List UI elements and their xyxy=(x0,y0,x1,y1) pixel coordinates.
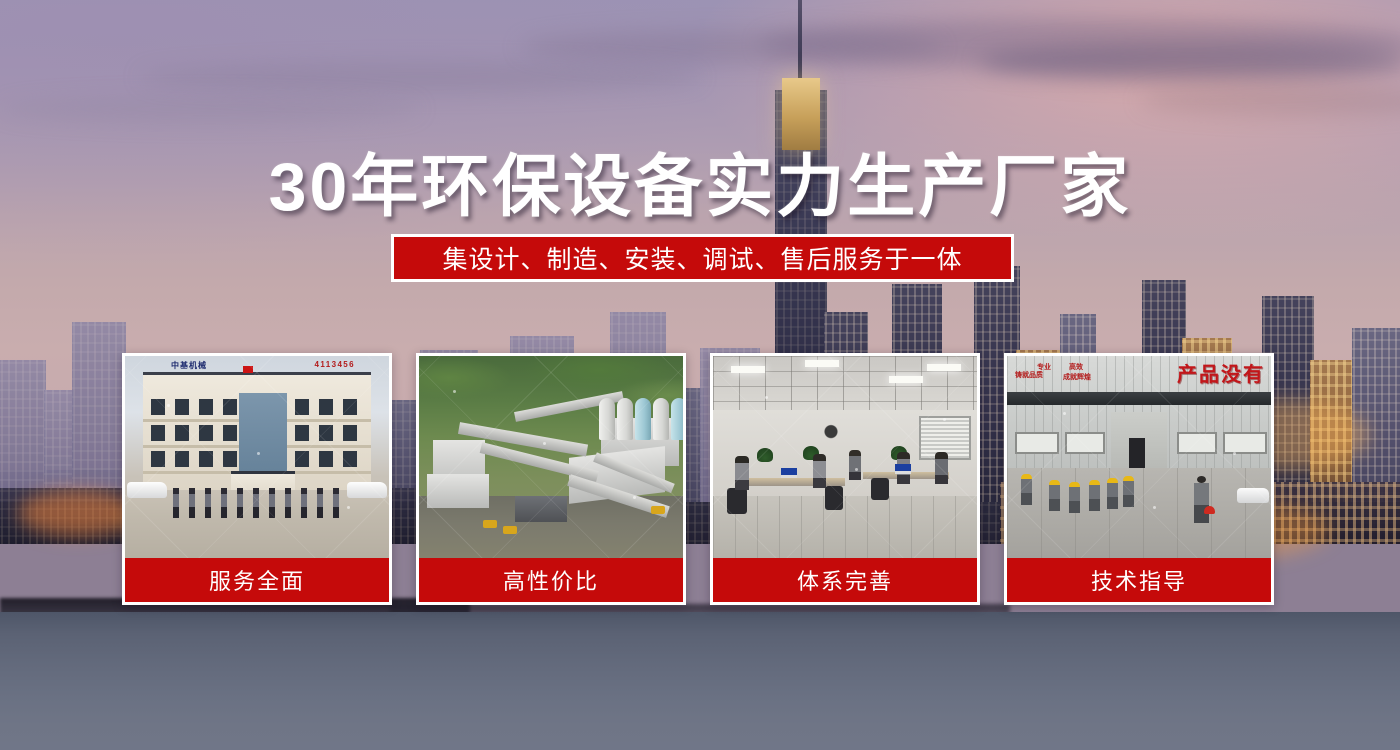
aerial-plant-photo xyxy=(419,356,683,558)
parked-car xyxy=(347,482,387,498)
drop-ceiling xyxy=(713,356,977,410)
factory-slogan: 铸就品质 xyxy=(1015,372,1043,381)
parked-car xyxy=(127,482,167,498)
feature-card[interactable]: 产品没有 铸就品质 专业 高效 成就辉煌 xyxy=(1004,353,1274,605)
factory-banner-text: 产品没有 xyxy=(1177,358,1265,387)
card-caption: 技术指导 xyxy=(1007,558,1271,602)
card-caption: 体系完善 xyxy=(713,558,977,602)
feature-card[interactable]: 中基机械 4113456 xyxy=(122,353,392,605)
facade-strip xyxy=(1007,392,1271,405)
factory-slogan: 专业 xyxy=(1037,364,1051,373)
instructor-person xyxy=(1194,476,1209,523)
promo-banner: 30年环保设备实力生产厂家 集设计、制造、安装、调试、售后服务于一体 中基机械 xyxy=(0,0,1400,750)
flag-icon xyxy=(243,366,253,373)
feature-card-row: 中基机械 4113456 xyxy=(122,353,1279,605)
subtitle-text: 集设计、制造、安装、调试、售后服务于一体 xyxy=(394,237,1011,279)
factory-slogan: 高效 xyxy=(1069,364,1083,373)
office-building-staff-photo: 中基机械 4113456 xyxy=(125,356,389,558)
factory-slogan: 成就辉煌 xyxy=(1063,374,1091,383)
tower-spire xyxy=(798,0,802,80)
company-sign-text: 中基机械 xyxy=(171,360,207,371)
feature-card[interactable]: 体系完善 xyxy=(710,353,980,605)
office-floor xyxy=(713,496,977,558)
card-caption: 高性价比 xyxy=(419,558,683,602)
water-reflection xyxy=(0,612,1400,750)
parked-car xyxy=(1237,488,1269,503)
office-interior-photo xyxy=(713,356,977,558)
phone-number-text: 4113456 xyxy=(314,360,355,369)
feature-card[interactable]: 高性价比 xyxy=(416,353,686,605)
wall-logo xyxy=(817,416,845,442)
red-helmet-icon xyxy=(1204,506,1215,514)
card-caption: 服务全面 xyxy=(125,558,389,602)
factory-yard xyxy=(1007,468,1271,558)
page-title: 30年环保设备实力生产厂家 xyxy=(0,131,1400,230)
worker-training-photo: 产品没有 铸就品质 专业 高效 成就辉煌 xyxy=(1007,356,1271,558)
factory-door-opening xyxy=(1129,438,1145,468)
building-facade xyxy=(143,372,371,490)
subtitle-banner: 集设计、制造、安装、调试、售后服务于一体 xyxy=(391,234,1014,282)
